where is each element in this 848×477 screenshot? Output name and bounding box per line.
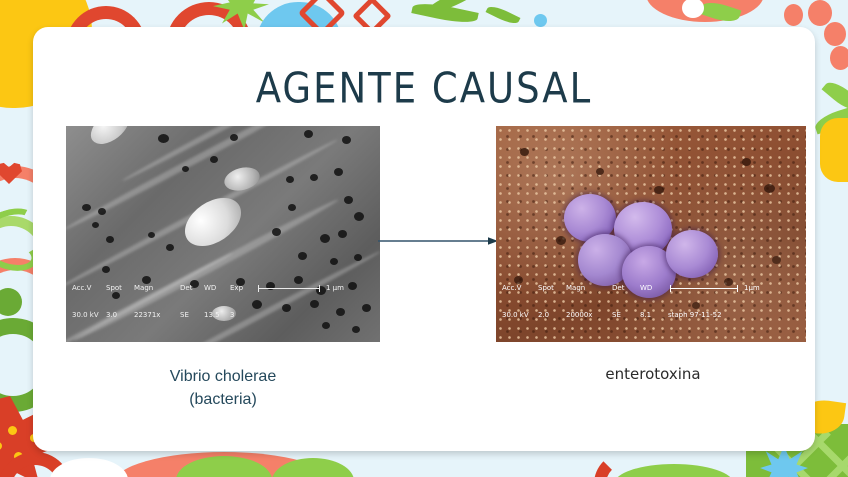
sem-pore <box>272 228 281 236</box>
decor-red-heart <box>0 162 22 184</box>
decor-yellow-pineapple <box>820 118 848 182</box>
caption-line-1: Vibrio cholerae <box>53 365 393 388</box>
scale-bar-line <box>258 288 320 289</box>
sem-pore <box>342 136 351 144</box>
databar-header-wd: WD <box>640 284 668 293</box>
sem-pit <box>520 148 529 156</box>
sem-pore <box>298 252 307 260</box>
decor-coral-dot-1 <box>784 4 803 26</box>
decor-green-leaf-6 <box>813 106 848 135</box>
sem-pit <box>772 256 781 264</box>
sem-pore <box>344 196 353 204</box>
decor-green-dot-left <box>0 288 22 316</box>
micrograph-vibrio-cholerae[interactable]: Acc.V Spot Magn Det WD Exp 1 µm 30.0 kV … <box>66 126 380 342</box>
sem-pore <box>286 176 294 183</box>
caption-line-2: (bacteria) <box>53 388 393 411</box>
caption-enterotoxina: enterotoxina <box>533 365 773 383</box>
databar-header-accv: Acc.V <box>72 284 106 293</box>
decor-coral-dot-4 <box>830 46 848 70</box>
sem-pore <box>288 204 296 211</box>
decor-green-leaf-bottom-1 <box>176 456 272 477</box>
databar-value-wd: 8.1 <box>640 311 668 320</box>
databar-header-accv: Acc.V <box>502 284 538 293</box>
decor-red-arc-bottom <box>594 452 658 477</box>
scale-bar-label: 1µm <box>744 284 760 293</box>
sem-pore <box>82 204 91 211</box>
databar-value-magn: 22371x <box>134 311 180 320</box>
databar-header-det: Det <box>180 284 204 293</box>
sem-pit <box>764 184 775 193</box>
decor-blue-dot-top <box>534 14 547 27</box>
decor-green-leaf-5 <box>822 77 848 115</box>
sem-pore <box>182 166 189 172</box>
databar-value-accv: 30.0 kV <box>502 311 538 320</box>
sem-databar-right: Acc.V Spot Magn Det WD 1µm 30.0 kV 2.0 2… <box>496 266 806 338</box>
databar-header-spot: Spot <box>538 284 566 293</box>
sem-pore <box>166 244 174 251</box>
sem-pore <box>230 134 238 141</box>
sem-pit <box>654 186 664 194</box>
databar-value-spot: 3.0 <box>106 311 134 320</box>
decor-green-leaf-bottom-2 <box>272 458 354 477</box>
decor-yellow-dot-3 <box>14 452 23 461</box>
content-card: AGENTE CAUSAL <box>33 27 815 451</box>
slide-canvas: AGENTE CAUSAL <box>0 0 848 477</box>
decor-green-leaf-2 <box>424 0 482 16</box>
decor-white-petal <box>682 0 704 18</box>
databar-value-accv: 30.0 kV <box>72 311 106 320</box>
decor-green-leaf-3 <box>486 3 521 27</box>
sem-pore <box>354 254 362 261</box>
sem-pit <box>742 158 751 166</box>
databar-header-wd: WD <box>204 284 230 293</box>
decor-green-strip-bottom <box>614 464 734 477</box>
databar-header-magn: Magn <box>134 284 180 293</box>
decor-green-leaf-4 <box>699 0 742 26</box>
sem-pore <box>92 222 99 228</box>
decor-red-ring-bottom <box>0 452 72 477</box>
databar-header-magn: Magn <box>566 284 612 293</box>
sem-pit <box>556 236 566 245</box>
decor-coral-blob-topright <box>646 0 764 22</box>
caption-line-1: enterotoxina <box>533 365 773 383</box>
sem-pore <box>320 234 330 243</box>
databar-value-magn: 20000x <box>566 311 612 320</box>
sem-pore <box>304 130 313 138</box>
databar-header-exp: Exp <box>230 284 256 293</box>
decor-white-leaf-bottom <box>50 458 128 477</box>
databar-value-spot: 2.0 <box>538 311 566 320</box>
sem-pore <box>98 208 106 215</box>
decor-yellow-dot-1 <box>8 426 17 435</box>
decor-green-starburst <box>213 0 269 30</box>
sem-databar-left: Acc.V Spot Magn Det WD Exp 1 µm 30.0 kV … <box>66 266 380 338</box>
relationship-arrow <box>378 233 498 243</box>
sem-pore <box>158 134 169 143</box>
decor-yellow-dot-2 <box>0 442 2 450</box>
decor-coral-dot-3 <box>824 22 846 46</box>
databar-header-det: Det <box>612 284 640 293</box>
databar-header-spot: Spot <box>106 284 134 293</box>
sem-pore <box>354 212 364 221</box>
sem-pore <box>334 168 343 176</box>
sem-pore <box>148 232 155 238</box>
databar-value-exp: 3 <box>230 311 256 320</box>
arrow-icon <box>378 236 498 246</box>
page-title: AGENTE CAUSAL <box>33 64 815 112</box>
sem-pore <box>330 258 338 265</box>
databar-value-det: SE <box>180 311 204 320</box>
decor-coral-blob-bottom <box>114 452 334 477</box>
sem-pore <box>338 230 347 238</box>
sem-pore <box>310 174 318 181</box>
micrograph-enterotoxina[interactable]: Acc.V Spot Magn Det WD 1µm 30.0 kV 2.0 2… <box>496 126 806 342</box>
sem-pore <box>210 156 218 163</box>
sem-pore <box>106 236 114 243</box>
databar-value-wd: 13.5 <box>204 311 230 320</box>
sem-pit <box>596 168 604 175</box>
scale-bar-line <box>670 288 738 289</box>
decor-green-leaf-1 <box>411 0 478 27</box>
decor-coral-dot-2 <box>808 0 832 26</box>
scale-bar-label: 1 µm <box>326 284 344 293</box>
databar-value-det: SE <box>612 311 640 320</box>
caption-vibrio-cholerae: Vibrio cholerae (bacteria) <box>53 365 393 411</box>
